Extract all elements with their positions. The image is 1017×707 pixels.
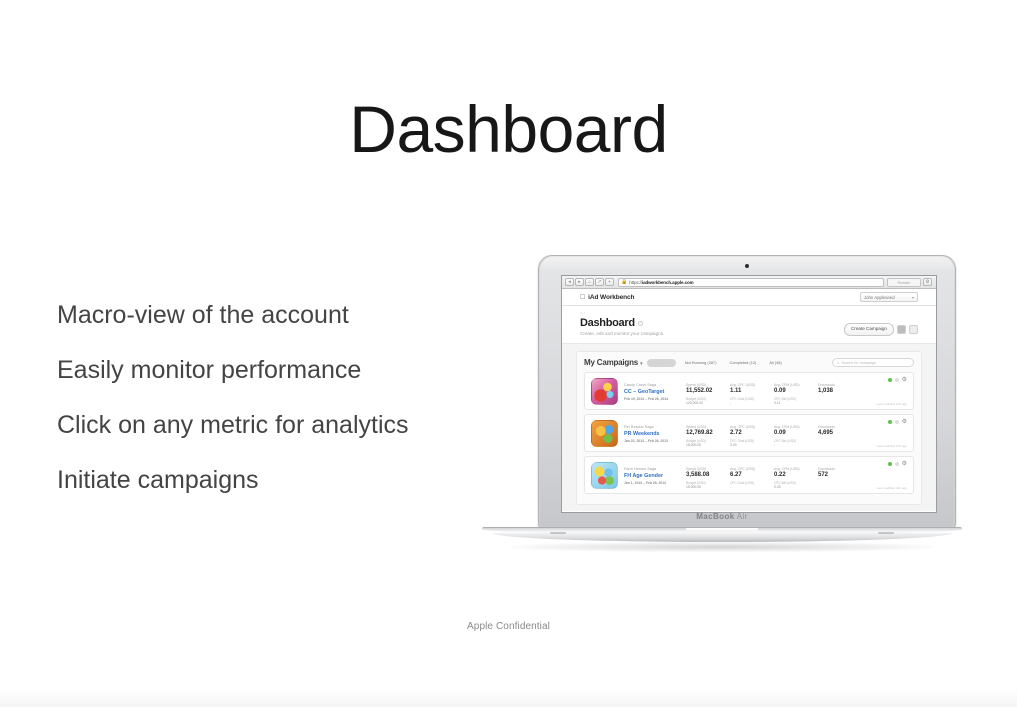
table-row[interactable]: Farm Heroes Saga FH Age Gender Jan 1, 20… — [584, 456, 914, 494]
metric-sub-value: - — [730, 485, 774, 489]
device-model-suffix: Air — [737, 512, 748, 521]
app-name: Pet Rescue Saga — [624, 425, 686, 429]
campaign-link[interactable]: FH Age Gender — [624, 473, 686, 479]
chevron-down-icon: ▾ — [912, 295, 914, 300]
campaign-name-block: Candy Crush Saga CC – GeoTarget Feb 19, … — [624, 378, 686, 401]
campaign-link[interactable]: CC – GeoTarget — [624, 389, 686, 395]
home-icon[interactable]: ⌂ — [585, 278, 594, 286]
gear-icon[interactable]: ⚙ — [902, 377, 907, 383]
url-bar[interactable]: 🔒 https://iadworkbench.apple.com — [618, 278, 884, 287]
gear-icon[interactable]: ⚙ — [902, 461, 907, 467]
info-icon[interactable] — [638, 321, 643, 326]
campaign-search-placeholder: Search for campaign — [841, 361, 876, 365]
laptop-foot-left — [550, 532, 566, 534]
metric-sub-value: - — [730, 401, 774, 405]
metric-label: Spend (USD) — [686, 383, 730, 387]
back-icon[interactable]: ◂ — [565, 278, 574, 286]
metric-cpc[interactable]: Avg. CPC (USD) 2.72 CPC Goal (USD) 3.00 — [730, 420, 774, 447]
chevron-down-icon: ▾ — [640, 361, 642, 367]
row-updated-label: Last modified 14h ago — [877, 402, 907, 406]
app-header-actions: Create Campaign — [844, 323, 918, 336]
status-badge — [888, 462, 892, 466]
metric-sub-value: 120,000.00 — [686, 401, 730, 405]
filter-running[interactable]: Running (3) — [647, 359, 675, 367]
laptop-base-edge — [492, 533, 952, 542]
gear-icon[interactable]: ⚙ — [923, 278, 932, 286]
row-status: ⚙ — [888, 377, 907, 383]
campaign-name-block: Pet Rescue Saga PR Weekends Jan 22, 2013… — [624, 420, 686, 443]
account-dropdown[interactable]: John Appleseed ▾ — [860, 292, 918, 302]
share-icon[interactable]: ↗ — [595, 278, 604, 286]
metric-label: Spend (USD) — [686, 467, 730, 471]
metric-cpc[interactable]: Avg. CPC (USD) 1.11 CPC Goal (USD) - — [730, 378, 774, 405]
metric-cpm[interactable]: Avg. CPM (USD) 0.09 CPC Bid (USD) 0.11 — [774, 378, 818, 405]
metric-label: Avg. CPC (USD) — [730, 425, 774, 429]
metric-downloads[interactable]: Downloads 1,038 — [818, 378, 862, 397]
presentation-slide: Dashboard Macro-view of the account Easi… — [0, 0, 1017, 707]
device-model-label: MacBook Air — [482, 512, 962, 521]
metric-value: 1.11 — [730, 388, 774, 394]
filter-completed[interactable]: Completed (12) — [726, 359, 761, 367]
metric-sub-value: 3.00 — [730, 443, 774, 447]
metric-label: Downloads — [818, 383, 862, 387]
apple-logo-icon:  — [580, 294, 585, 301]
laptop-notch — [686, 528, 758, 532]
row-updated-label: Last modified 14h ago — [877, 444, 907, 448]
browser-toolbar: ◂ ▸ ⌂ ↗ + 🔒 https://iadworkbench.apple.c… — [562, 276, 936, 289]
metric-sub-value: - — [774, 443, 818, 447]
metric-value: 0.09 — [774, 388, 818, 394]
campaign-link[interactable]: PR Weekends — [624, 431, 686, 437]
lock-icon: 🔒 — [621, 279, 627, 285]
metric-value: 0.22 — [774, 472, 818, 478]
list-item: Macro-view of the account — [57, 303, 487, 328]
metric-sub-value: 0.25 — [774, 485, 818, 489]
metric-downloads[interactable]: Downloads 4,695 — [818, 420, 862, 439]
app-name: Farm Heroes Saga — [624, 467, 686, 471]
campaign-search-input[interactable]: ⌕ Search for campaign — [832, 358, 914, 367]
metric-label: Spend (USD) — [686, 425, 730, 429]
campaign-dates: Jan 22, 2013 – Feb 26, 2013 — [624, 439, 686, 443]
row-status: ⚙ — [888, 461, 907, 467]
metric-label: Avg. CPC (USD) — [730, 467, 774, 471]
list-item: Easily monitor performance — [57, 358, 487, 383]
list-view-toggle[interactable] — [909, 325, 918, 334]
table-row[interactable]: Pet Rescue Saga PR Weekends Jan 22, 2013… — [584, 414, 914, 452]
campaign-name-block: Farm Heroes Saga FH Age Gender Jan 1, 20… — [624, 462, 686, 485]
metric-label: Avg. CPM (USD) — [774, 425, 818, 429]
filter-all[interactable]: All (48) — [765, 359, 785, 367]
metric-value: 3,588.08 — [686, 472, 730, 478]
laptop-foot-right — [878, 532, 894, 534]
table-row[interactable]: Candy Crush Saga CC – GeoTarget Feb 19, … — [584, 372, 914, 410]
app-name: Candy Crush Saga — [624, 383, 686, 387]
confidential-footer: Apple Confidential — [0, 621, 1017, 632]
app-icon — [591, 420, 618, 447]
metric-value: 11,552.02 — [686, 388, 730, 394]
row-updated-label: Last modified 14h ago — [877, 486, 907, 490]
bullet-list: Macro-view of the account Easily monitor… — [57, 303, 487, 493]
laptop-base — [482, 527, 962, 543]
browser-window: ◂ ▸ ⌂ ↗ + 🔒 https://iadworkbench.apple.c… — [562, 276, 936, 512]
laptop-bezel: ◂ ▸ ⌂ ↗ + 🔒 https://iadworkbench.apple.c… — [540, 257, 954, 527]
list-item: Click on any metric for analytics — [57, 413, 487, 438]
panel-title-text: My Campaigns — [584, 358, 638, 367]
app-brand:  iAd Workbench — [580, 294, 634, 301]
iad-workbench-app:  iAd Workbench John Appleseed ▾ ⌂ › — [562, 289, 936, 511]
gear-icon[interactable]: ⚙ — [902, 419, 907, 425]
metric-downloads[interactable]: Downloads 572 — [818, 462, 862, 481]
laptop-shadow — [512, 542, 932, 552]
laptop-lid: ◂ ▸ ⌂ ↗ + 🔒 https://iadworkbench.apple.c… — [538, 255, 956, 529]
metric-value: 4,695 — [818, 430, 862, 436]
metric-value: 572 — [818, 472, 862, 478]
status-badge-secondary — [895, 462, 899, 466]
metric-value: 12,769.82 — [686, 430, 730, 436]
metric-sub-value: 18,000.00 — [686, 443, 730, 447]
app-page-header: ⌂ › Dashboard Create, edit and monitor y… — [562, 306, 936, 344]
metric-value: 1,038 — [818, 388, 862, 394]
metric-spend[interactable]: Spend (USD) 3,588.08 Budget (USD) 15,000… — [686, 462, 730, 489]
metric-sub-value: 15,000.00 — [686, 485, 730, 489]
row-status: ⚙ — [888, 419, 907, 425]
browser-toolbar-right: Reader ⚙ — [887, 278, 933, 287]
breadcrumb[interactable]: ⌂ › — [580, 310, 918, 315]
add-tab-icon[interactable]: + — [605, 278, 614, 286]
app-page-title-text: Dashboard — [580, 317, 635, 329]
grid-view-toggle[interactable] — [897, 325, 906, 334]
create-campaign-button[interactable]: Create Campaign — [844, 323, 894, 336]
app-navbar:  iAd Workbench John Appleseed ▾ — [562, 289, 936, 306]
status-badge — [888, 420, 892, 424]
metric-cpm[interactable]: Avg. CPM (USD) 0.22 CPC Bid (USD) 0.25 — [774, 462, 818, 489]
campaign-dates: Jan 1, 2013 – Feb 26, 2013 — [624, 481, 686, 485]
slide-bottom-band — [0, 690, 1017, 707]
camera-icon — [745, 264, 749, 268]
metric-spend[interactable]: Spend (USD) 11,552.02 Budget (USD) 120,0… — [686, 378, 730, 405]
metric-value: 6.27 — [730, 472, 774, 478]
metric-spend[interactable]: Spend (USD) 12,769.82 Budget (USD) 18,00… — [686, 420, 730, 447]
metric-label: Avg. CPC (USD) — [730, 383, 774, 387]
forward-icon[interactable]: ▸ — [575, 278, 584, 286]
app-icon — [591, 378, 618, 405]
metric-label: Downloads — [818, 425, 862, 429]
metric-cpm[interactable]: Avg. CPM (USD) 0.09 CPC Bid (USD) - — [774, 420, 818, 447]
list-item: Initiate campaigns — [57, 468, 487, 493]
page-title: Dashboard — [0, 96, 1017, 162]
url-text: https://iadworkbench.apple.com — [629, 280, 693, 285]
panel-title[interactable]: My Campaigns▾ — [584, 358, 642, 367]
metric-label: Avg. CPM (USD) — [774, 467, 818, 471]
my-campaigns-panel: My Campaigns▾ Running (3) Not Running (2… — [576, 351, 922, 505]
panel-toolbar: My Campaigns▾ Running (3) Not Running (2… — [584, 358, 914, 367]
browser-search-input[interactable]: Reader — [887, 278, 921, 287]
status-badge-secondary — [895, 378, 899, 382]
search-icon: ⌕ — [837, 361, 839, 365]
filter-not-running[interactable]: Not Running (287) — [681, 359, 721, 367]
metric-cpc[interactable]: Avg. CPC (USD) 6.27 CPC Goal (USD) - — [730, 462, 774, 489]
metric-label: Avg. CPM (USD) — [774, 383, 818, 387]
account-name: John Appleseed — [864, 295, 895, 300]
app-brand-label: iAd Workbench — [588, 294, 634, 301]
device-model-prefix: MacBook — [696, 512, 734, 521]
metric-value: 2.72 — [730, 430, 774, 436]
macbook-air-mockup: ◂ ▸ ⌂ ↗ + 🔒 https://iadworkbench.apple.c… — [482, 255, 962, 560]
app-icon — [591, 462, 618, 489]
status-badge — [888, 378, 892, 382]
status-badge-secondary — [895, 420, 899, 424]
laptop-screen: ◂ ▸ ⌂ ↗ + 🔒 https://iadworkbench.apple.c… — [561, 275, 937, 513]
campaign-dates: Feb 19, 2014 – Feb 26, 2014 — [624, 397, 686, 401]
metric-label: Downloads — [818, 467, 862, 471]
metric-value: 0.09 — [774, 430, 818, 436]
metric-sub-value: 0.11 — [774, 401, 818, 405]
